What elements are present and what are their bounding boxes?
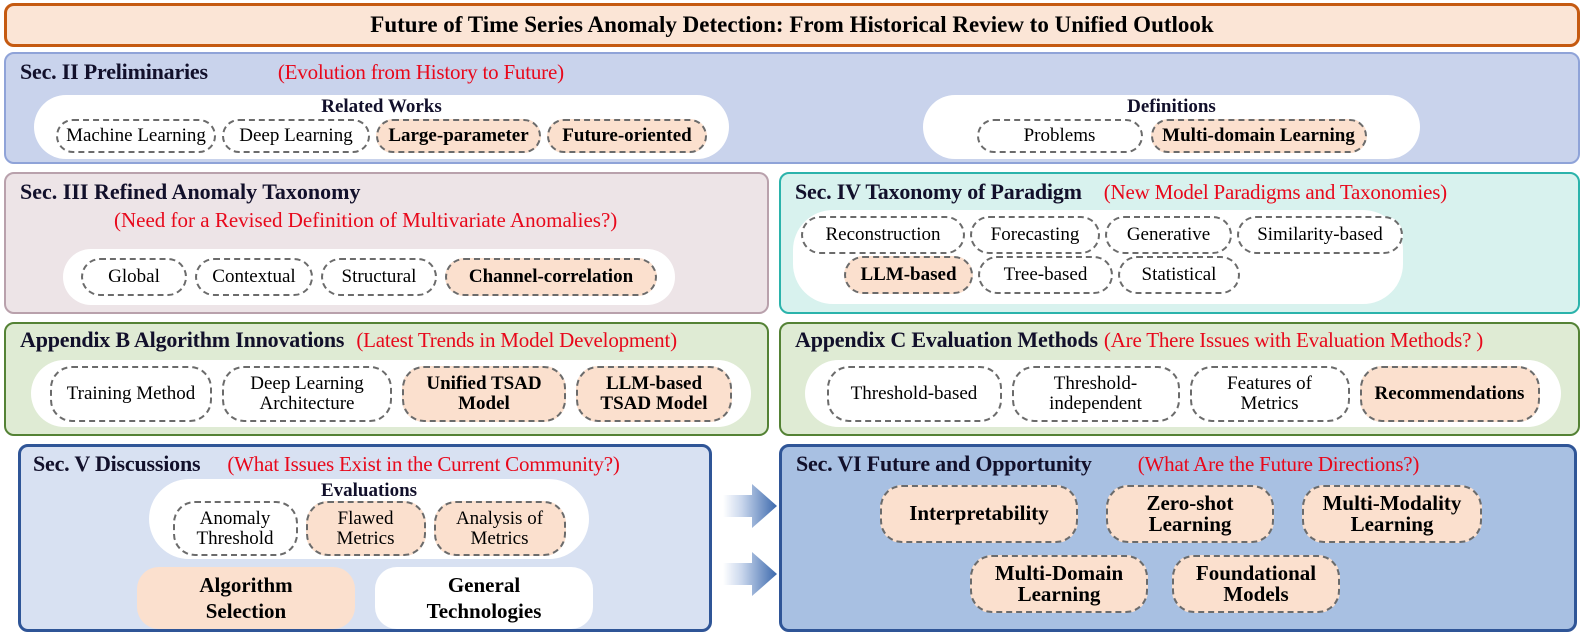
section-appendix-c-question: (Are There Issues with Evaluation Method… [1104,328,1483,353]
pill-similarity-based[interactable]: Similarity-based [1237,216,1403,254]
group-definitions-title: Definitions [923,95,1420,118]
pill-label: Multi-Modality Learning [1323,493,1462,536]
pill-recommendations[interactable]: Recommendations [1360,366,1540,422]
pill-llm-based[interactable]: LLM-based [844,256,973,294]
pill-label: Reconstruction [825,225,940,244]
section-sec3-question: (Need for a Revised Definition of Multiv… [114,208,617,233]
pill-label: Multi-Domain Learning [995,563,1123,606]
pill-llm-based-tsad-model[interactable]: LLM-based TSAD Model [576,366,732,422]
title-banner: Future of Time Series Anomaly Detection:… [4,3,1580,47]
section-appendix-b-title: Appendix B Algorithm Innovations [20,327,344,353]
pill-label: Future-oriented [562,126,691,145]
section-sec6-question: (What Are the Future Directions?) [1138,452,1419,477]
pill-zero-shot-learning[interactable]: Zero-shot Learning [1106,485,1274,543]
pill-structural[interactable]: Structural [321,258,437,296]
sec4-pill-row-2: LLM-based Tree-based Statistical [793,254,1403,294]
sec3-pill-row: Global Contextual Structural Channel-cor… [63,249,675,305]
pill-label: Problems [1024,126,1096,145]
section-appendix-c-header: Appendix C Evaluation Methods (Are There… [795,327,1483,353]
pill-reconstruction[interactable]: Reconstruction [801,216,965,254]
pill-label: Machine Learning [66,126,206,145]
pill-label: Anomaly Threshold [196,509,273,548]
pill-label: Unified TSAD Model [426,374,541,413]
pill-label: Similarity-based [1257,225,1383,244]
pill-threshold-independent[interactable]: Threshold- independent [1012,366,1180,422]
section-sec3-title: Sec. III Refined Anomaly Taxonomy [20,179,360,205]
pill-label: Forecasting [991,225,1080,244]
pill-machine-learning[interactable]: Machine Learning [56,119,216,153]
section-appendix-b-header: Appendix B Algorithm Innovations (Latest… [20,327,677,353]
group-sec3-items: Global Contextual Structural Channel-cor… [63,249,675,305]
pill-multi-domain-learning-future[interactable]: Multi-Domain Learning [970,555,1148,613]
pill-label: Recommendations [1375,384,1525,403]
pill-unified-tsad-model[interactable]: Unified TSAD Model [402,366,566,422]
section-sec2-question: (Evolution from History to Future) [278,60,564,85]
pill-label: Contextual [212,267,295,286]
pill-multi-modality-learning[interactable]: Multi-Modality Learning [1302,485,1482,543]
pill-label: Analysis of Metrics [456,509,543,548]
section-sec2: Sec. II Preliminaries (Evolution from Hi… [4,52,1580,164]
section-appendix-b-question: (Latest Trends in Model Development) [356,328,677,353]
pill-label: Zero-shot Learning [1146,493,1233,536]
section-sec4-header: Sec. IV Taxonomy of Paradigm (New Model … [795,179,1447,205]
group-evaluations: Evaluations Anomaly Threshold Flawed Met… [149,479,589,559]
sec6-pill-row-2: Multi-Domain Learning Foundational Model… [782,555,1580,613]
section-appendix-b: Appendix B Algorithm Innovations (Latest… [4,322,769,436]
pill-deep-learning[interactable]: Deep Learning [222,119,370,153]
section-sec5-title: Sec. V Discussions [33,451,200,477]
pill-label: Threshold-based [851,384,978,403]
pill-label: Interpretability [909,503,1049,524]
flow-arrow-top [721,481,779,531]
appendix-c-pill-row: Threshold-based Threshold- independent F… [805,360,1561,427]
group-appendix-b-items: Training Method Deep Learning Architectu… [31,360,751,427]
pill-training-method[interactable]: Training Method [50,366,212,422]
evaluations-pill-row: Anomaly Threshold Flawed Metrics Analysi… [149,501,589,556]
pill-features-of-metrics[interactable]: Features of Metrics [1190,366,1350,422]
pill-label: Statistical [1142,265,1217,284]
pill-multi-domain-learning[interactable]: Multi-domain Learning [1151,119,1367,153]
pill-forecasting[interactable]: Forecasting [970,216,1100,254]
pill-tree-based[interactable]: Tree-based [978,256,1113,294]
pill-generative[interactable]: Generative [1105,216,1232,254]
section-sec4: Sec. IV Taxonomy of Paradigm (New Model … [779,172,1580,314]
pill-label: Structural [342,267,417,286]
pill-label: Global [108,267,160,286]
diagram-canvas: Future of Time Series Anomaly Detection:… [0,0,1584,637]
pill-deep-learning-architecture[interactable]: Deep Learning Architecture [222,366,392,422]
group-related-works-title: Related Works [34,95,729,118]
section-appendix-c-title: Appendix C Evaluation Methods [795,327,1098,353]
pill-label: Channel-correlation [469,267,633,286]
group-definitions: Definitions Problems Multi-domain Learni… [923,95,1420,159]
pill-statistical[interactable]: Statistical [1118,256,1240,294]
section-sec4-title: Sec. IV Taxonomy of Paradigm [795,179,1082,205]
card-label: Algorithm Selection [199,572,292,625]
pill-label: Deep Learning [239,126,352,145]
pill-label: Threshold- independent [1049,374,1142,413]
pill-interpretability[interactable]: Interpretability [880,485,1078,543]
section-sec6: Sec. VI Future and Opportunity (What Are… [779,444,1577,632]
section-sec5: Sec. V Discussions (What Issues Exist in… [18,444,712,632]
pill-threshold-based[interactable]: Threshold-based [827,366,1002,422]
pill-label: Training Method [67,384,196,403]
appendix-b-pill-row: Training Method Deep Learning Architectu… [31,360,751,427]
pill-foundational-models[interactable]: Foundational Models [1172,555,1340,613]
group-appendix-c-items: Threshold-based Threshold- independent F… [805,360,1561,427]
section-sec2-header: Sec. II Preliminaries (Evolution from Hi… [20,59,564,85]
section-appendix-c: Appendix C Evaluation Methods (Are There… [779,322,1580,436]
pill-future-oriented[interactable]: Future-oriented [547,119,707,153]
section-sec5-question: (What Issues Exist in the Current Commun… [227,452,619,477]
sec6-pill-row-1: Interpretability Zero-shot Learning Mult… [782,485,1580,543]
pill-label: Features of Metrics [1227,374,1312,413]
pill-label: Deep Learning Architecture [250,374,363,413]
section-sec4-question: (New Model Paradigms and Taxonomies) [1104,180,1447,205]
pill-contextual[interactable]: Contextual [195,258,313,296]
pill-flawed-metrics[interactable]: Flawed Metrics [306,501,426,556]
section-sec5-header: Sec. V Discussions (What Issues Exist in… [33,451,620,477]
group-evaluations-title: Evaluations [149,479,589,501]
pill-label: Generative [1127,225,1210,244]
card-general-technologies[interactable]: General Technologies [375,567,593,629]
section-sec3: Sec. III Refined Anomaly Taxonomy (Need … [4,172,769,314]
group-related-works-items: Machine Learning Deep Learning Large-par… [34,119,729,153]
pill-label: Large-parameter [388,126,528,145]
pill-label: Flawed Metrics [336,509,394,548]
sec4-pill-row-1: Reconstruction Forecasting Generative Si… [793,210,1403,254]
pill-anomaly-threshold[interactable]: Anomaly Threshold [173,501,298,556]
pill-label: Foundational Models [1196,563,1316,606]
section-sec6-header: Sec. VI Future and Opportunity (What Are… [796,451,1419,477]
pill-global[interactable]: Global [81,258,187,296]
card-algorithm-selection[interactable]: Algorithm Selection [137,567,355,629]
title-banner-text: Future of Time Series Anomaly Detection:… [7,6,1577,44]
pill-analysis-of-metrics[interactable]: Analysis of Metrics [434,501,566,556]
pill-label: LLM-based TSAD Model [600,374,707,413]
pill-problems[interactable]: Problems [977,119,1143,153]
card-label: General Technologies [427,572,542,625]
group-sec4-items: Reconstruction Forecasting Generative Si… [793,210,1403,304]
section-sec6-title: Sec. VI Future and Opportunity [796,451,1092,477]
pill-channel-correlation[interactable]: Channel-correlation [445,258,657,296]
pill-label: LLM-based [860,265,956,284]
pill-label: Tree-based [1004,265,1088,284]
pill-label: Multi-domain Learning [1162,126,1355,145]
group-definitions-items: Problems Multi-domain Learning [923,119,1420,153]
section-sec2-title: Sec. II Preliminaries [20,59,208,85]
flow-arrow-bottom [721,549,779,599]
group-related-works: Related Works Machine Learning Deep Lear… [34,95,729,159]
pill-large-parameter[interactable]: Large-parameter [376,119,541,153]
